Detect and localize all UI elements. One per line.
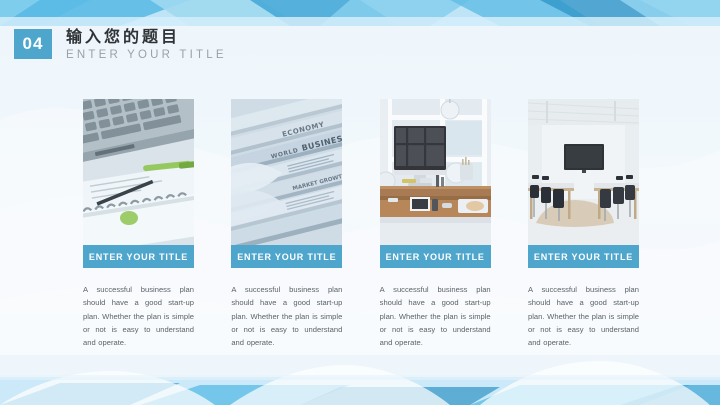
card-item[interactable]: ENTER YOUR TITLE A successful business p… <box>380 99 491 349</box>
card-item[interactable]: ENTER YOUR TITLE A successful business p… <box>83 99 194 349</box>
card-title-bar[interactable]: ENTER YOUR TITLE <box>231 245 342 268</box>
card-body-text: A successful business plan should have a… <box>380 283 491 349</box>
desk-monitor-window-photo <box>380 99 491 245</box>
top-decorative-band <box>0 0 720 26</box>
page-title-cn: 输入您的题目 <box>66 29 227 45</box>
slide-canvas: 04 输入您的题目 ENTER YOUR TITLE <box>0 0 720 405</box>
card-title-bar[interactable]: ENTER YOUR TITLE <box>380 245 491 268</box>
bottom-decorative-band <box>0 355 720 405</box>
card-title-bar[interactable]: ENTER YOUR TITLE <box>528 245 639 268</box>
card-item[interactable]: ECONOMY WORLD BUSINESS <box>231 99 342 349</box>
section-number-badge: 04 <box>14 29 52 59</box>
header-text-group: 输入您的题目 ENTER YOUR TITLE <box>66 29 227 62</box>
laptop-keyboard-notebook-photo <box>83 99 194 245</box>
stacked-newspapers-photo: ECONOMY WORLD BUSINESS <box>231 99 342 245</box>
card-row: ENTER YOUR TITLE A successful business p… <box>83 99 639 349</box>
card-title-bar[interactable]: ENTER YOUR TITLE <box>83 245 194 268</box>
card-body-text: A successful business plan should have a… <box>231 283 342 349</box>
card-body-text: A successful business plan should have a… <box>528 283 639 349</box>
slide-header: 04 输入您的题目 ENTER YOUR TITLE <box>14 29 227 62</box>
card-body-text: A successful business plan should have a… <box>83 283 194 349</box>
meeting-room-tv-chairs-photo <box>528 99 639 245</box>
page-subtitle-en: ENTER YOUR TITLE <box>66 50 227 62</box>
card-item[interactable]: ENTER YOUR TITLE A successful business p… <box>528 99 639 349</box>
